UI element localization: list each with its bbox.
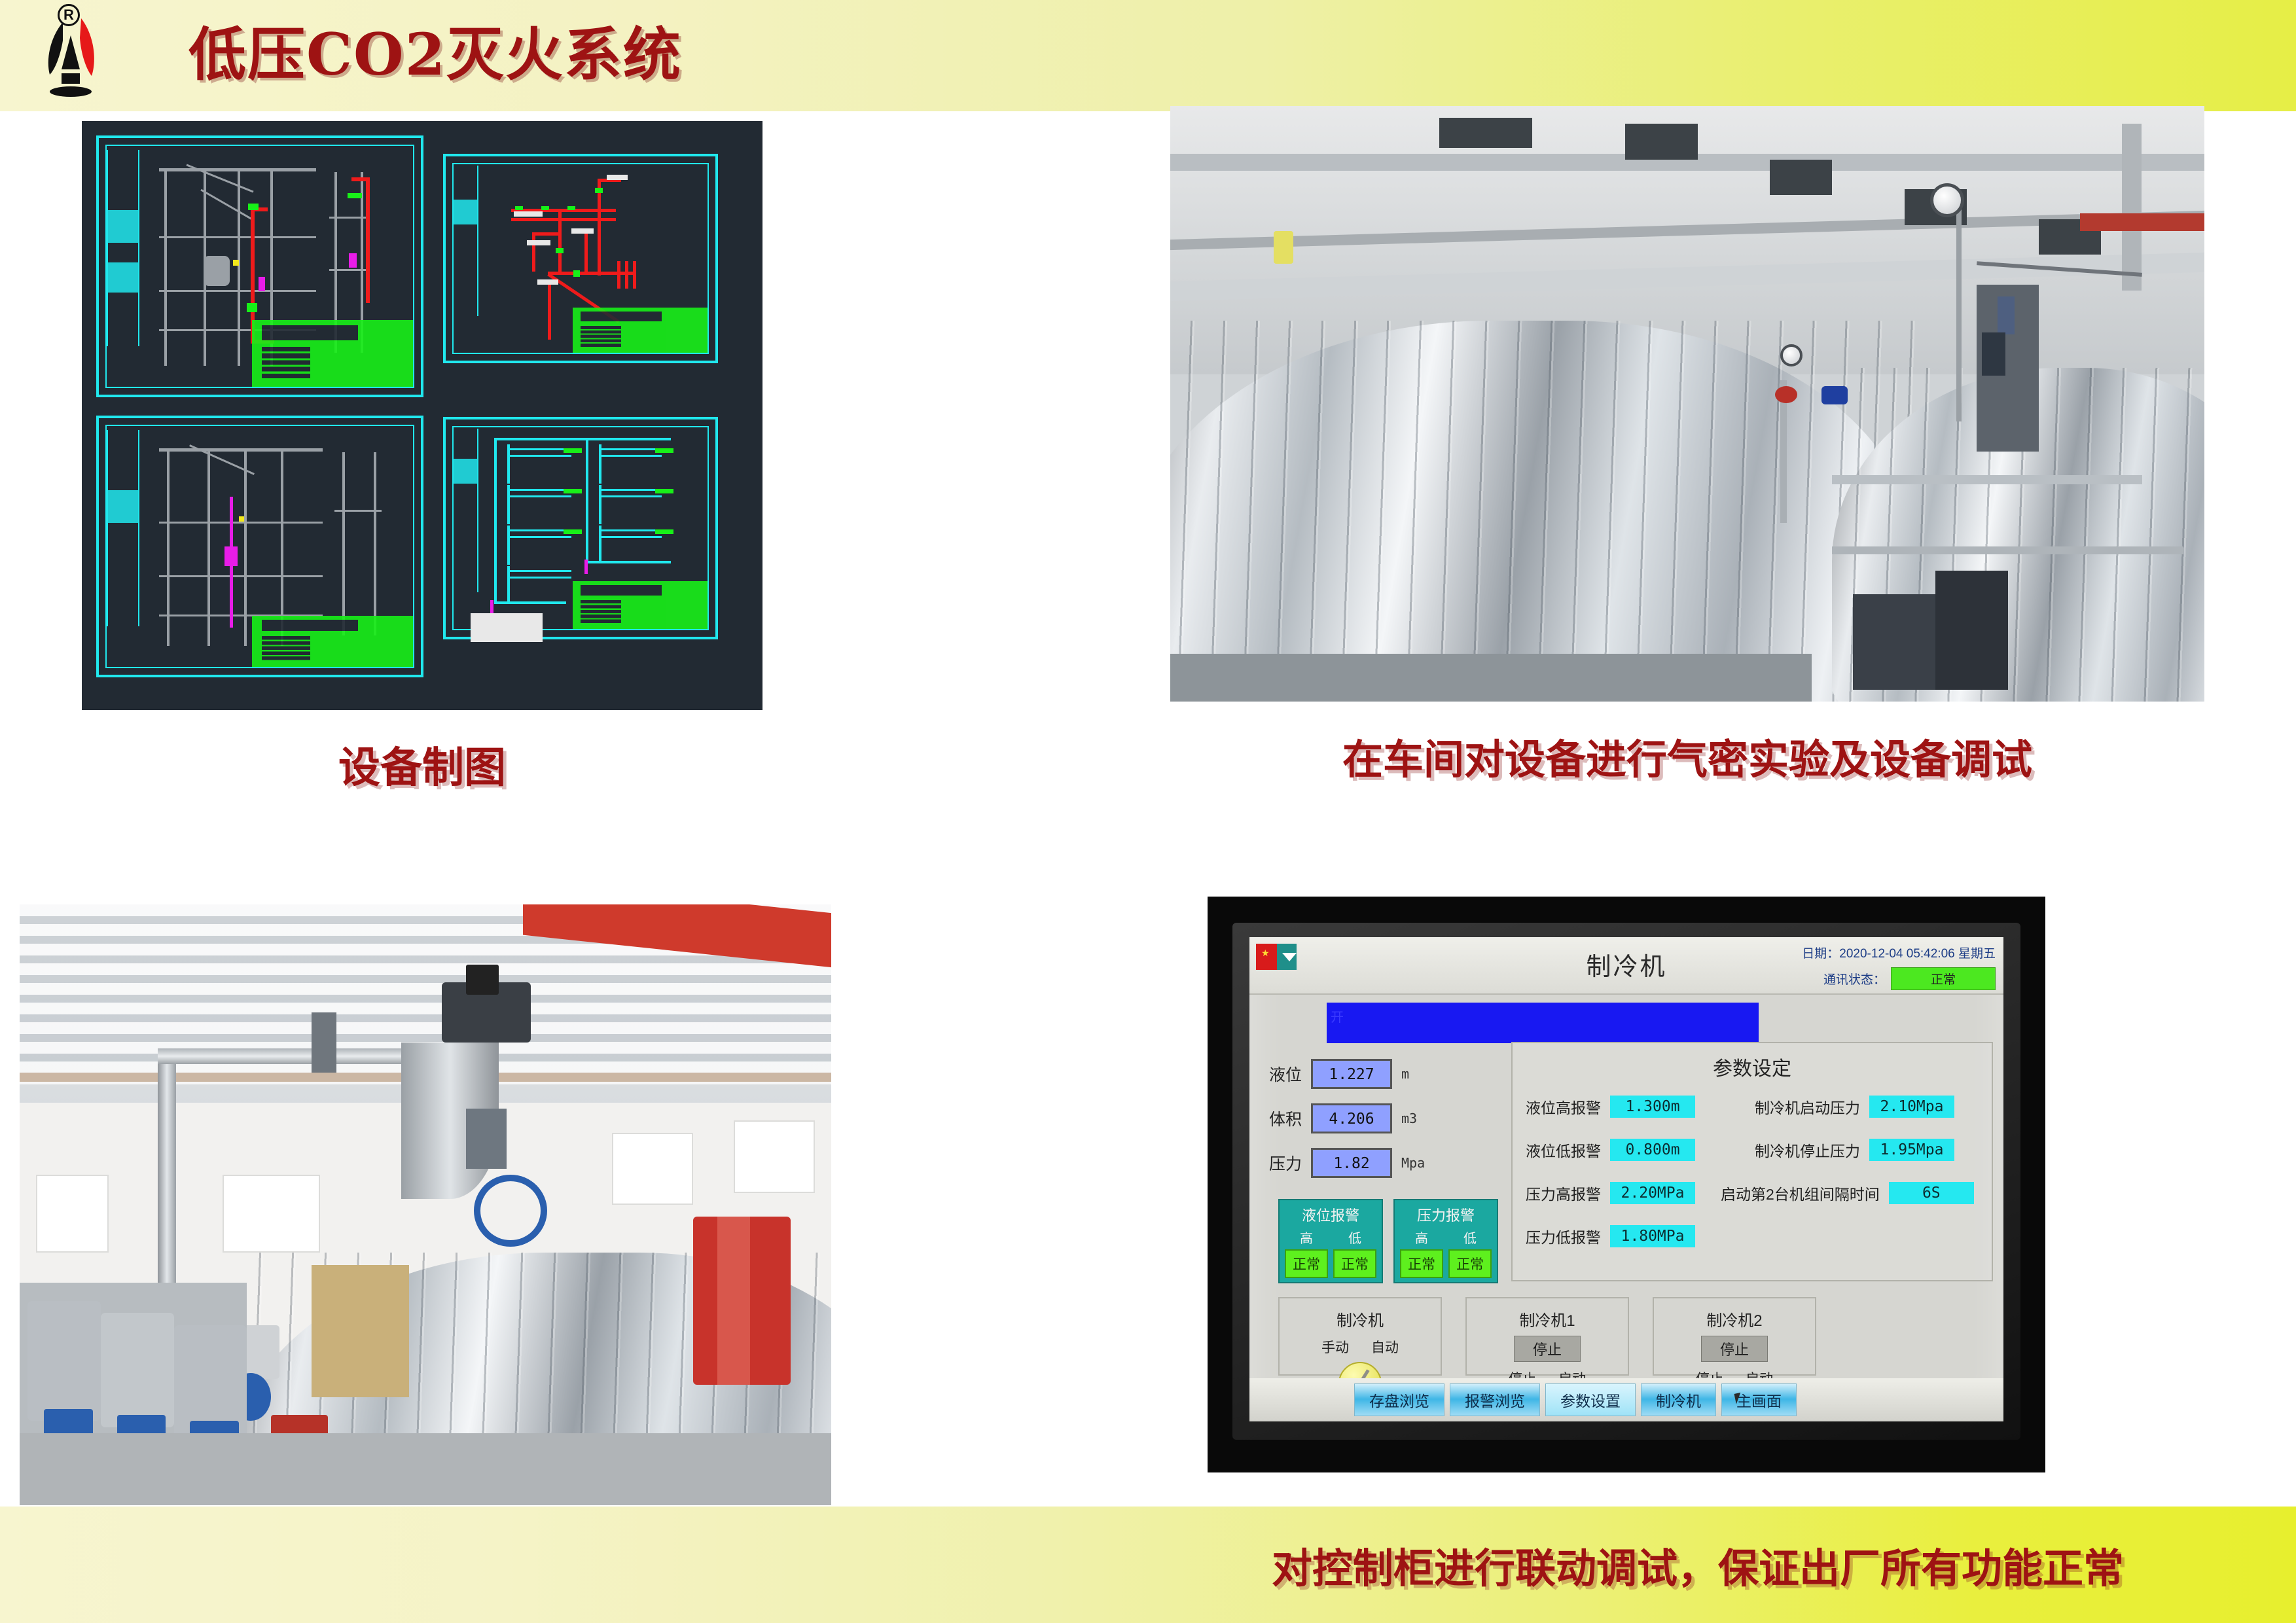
control-title: 制冷机 [1280, 1308, 1441, 1330]
param-label: 压力低报警 [1526, 1225, 1601, 1247]
param-level-high: 液位高报警 1.300m [1526, 1096, 1695, 1118]
workshop-test-image [1170, 106, 2204, 702]
control-state: 停止 [1514, 1336, 1581, 1362]
cad-quadrant-section [96, 416, 423, 677]
control-state: 停止 [1701, 1336, 1768, 1362]
param-value[interactable]: 1.80MPa [1610, 1225, 1695, 1247]
toolbar-button-parameter-settings[interactable]: 参数设置 [1545, 1383, 1636, 1416]
caption-workshop-test: 在车间对设备进行气密实验及设备调试 [1170, 726, 2204, 785]
hmi-comm-label: 通讯状态： [1823, 970, 1886, 988]
alarm-group-title: 压力报警 [1400, 1204, 1492, 1225]
alarm-low-state: 正常 [1448, 1249, 1492, 1278]
param-label: 液位低报警 [1526, 1139, 1601, 1161]
page-title: 低压CO2灭火系统 [188, 5, 682, 103]
toolbar-button-main-screen[interactable]: 主画面 [1721, 1383, 1797, 1416]
readout-value: 4.206 [1311, 1103, 1392, 1133]
cad-quadrant-electrical [443, 417, 718, 639]
alarm-group-level: 液位报警 高 正常 低 正常 [1278, 1199, 1383, 1283]
toolbar-button-chiller[interactable]: 制冷机 [1641, 1383, 1716, 1416]
alarm-high-state: 正常 [1285, 1249, 1328, 1278]
alarm-low-label: 低 [1448, 1228, 1492, 1247]
hmi-comm-status: 通讯状态： 正常 [1823, 967, 1996, 990]
cad-quadrant-piping [443, 154, 718, 363]
param-level-low: 液位低报警 0.800m [1526, 1139, 1695, 1161]
toolbar-button-alarm-browse[interactable]: 报警浏览 [1450, 1383, 1540, 1416]
hmi-date-label: 日期： [1802, 947, 1839, 961]
alarm-high-label: 高 [1285, 1228, 1328, 1247]
alarm-low-state: 正常 [1333, 1249, 1376, 1278]
parameter-panel-title: 参数设定 [1513, 1052, 1992, 1081]
alarm-high: 高 正常 [1400, 1228, 1443, 1278]
control-title: 制冷机2 [1654, 1308, 1815, 1330]
param-label: 制冷机启动压力 [1755, 1096, 1860, 1118]
status-badge: 正常 [1891, 967, 1996, 990]
param-value[interactable]: 0.800m [1610, 1139, 1695, 1161]
alarm-low-label: 低 [1333, 1228, 1376, 1247]
alarm-high-label: 高 [1400, 1228, 1443, 1247]
param-value[interactable]: 2.10Mpa [1869, 1096, 1954, 1118]
toolbar-button-archive-browse[interactable]: 存盘浏览 [1354, 1383, 1444, 1416]
hmi-bezel: ★ 制冷机 日期：2020-12-04 05:42:06 星期五 通讯状态： 正… [1232, 923, 2020, 1440]
alarm-high-state: 正常 [1400, 1249, 1443, 1278]
alarm-group-pressure: 压力报警 高 正常 低 正常 [1393, 1199, 1498, 1283]
cad-drawing-image [82, 121, 762, 710]
registered-trademark-icon: R [58, 4, 80, 26]
parameter-panel: 参数设定 液位高报警 1.300m 液位低报警 0.800m 压力高报警 2.2… [1511, 1042, 1993, 1281]
readout-level: 液位 1.227 m [1269, 1059, 1409, 1089]
readout-pressure: 压力 1.82 Mpa [1269, 1148, 1425, 1178]
readout-value: 1.82 [1311, 1148, 1392, 1178]
hmi-toolbar: 存盘浏览 报警浏览 参数设置 制冷机 主画面 [1249, 1378, 2003, 1421]
param-label: 启动第2台机组间隔时间 [1721, 1182, 1880, 1204]
param-chiller-start-pressure: 制冷机启动压力 2.10Mpa [1755, 1096, 1954, 1118]
control-title: 制冷机1 [1467, 1308, 1628, 1330]
param-pressure-low: 压力低报警 1.80MPa [1526, 1225, 1695, 1247]
param-value[interactable]: 2.20MPa [1610, 1182, 1695, 1204]
caption-control-cabinet: 对控制柜进行联动调试，保证出厂所有功能正常 [1100, 1535, 2296, 1594]
readout-unit: m [1401, 1066, 1409, 1082]
param-second-unit-delay: 启动第2台机组间隔时间 6S [1721, 1182, 1974, 1204]
control-left-label: 手动 [1321, 1337, 1349, 1357]
readout-label: 压力 [1269, 1151, 1302, 1175]
control-cabinet-image: ★ 制冷机 日期：2020-12-04 05:42:06 星期五 通讯状态： 正… [1208, 897, 2045, 1472]
hmi-date-value: 2020-12-04 05:42:06 星期五 [1839, 947, 1996, 961]
page-header: R 低压CO2灭火系统 [0, 0, 2296, 111]
control-chiller-mode: 制冷机 手动 自动 [1278, 1297, 1442, 1376]
control-right-label: 自动 [1371, 1337, 1399, 1357]
hmi-datetime: 日期：2020-12-04 05:42:06 星期五 [1802, 944, 1996, 961]
readout-label: 液位 [1269, 1062, 1302, 1086]
alarm-high: 高 正常 [1285, 1228, 1328, 1278]
readout-value: 1.227 [1311, 1059, 1392, 1089]
hmi-topbar: ★ 制冷机 日期：2020-12-04 05:42:06 星期五 通讯状态： 正… [1249, 937, 2003, 995]
caption-cad-drawing: 设备制图 [82, 734, 762, 794]
param-value[interactable]: 1.95Mpa [1869, 1139, 1954, 1161]
valve-linkage-image [20, 904, 831, 1505]
hmi-message-field[interactable]: 开 [1327, 1003, 1759, 1043]
readout-unit: Mpa [1401, 1155, 1425, 1171]
param-label: 制冷机停止压力 [1755, 1139, 1860, 1161]
readout-volume: 体积 4.206 m3 [1269, 1103, 1417, 1133]
alarm-low: 低 正常 [1333, 1228, 1376, 1278]
readout-unit: m3 [1401, 1111, 1417, 1126]
control-chiller-2: 制冷机2 停止 停止 启动 [1653, 1297, 1816, 1376]
alarm-low: 低 正常 [1448, 1228, 1492, 1278]
control-chiller-1: 制冷机1 停止 停止 启动 [1465, 1297, 1629, 1376]
alarm-group-title: 液位报警 [1285, 1204, 1376, 1225]
param-chiller-stop-pressure: 制冷机停止压力 1.95Mpa [1755, 1139, 1954, 1161]
cad-quadrant-elevation [96, 135, 423, 397]
readout-label: 体积 [1269, 1107, 1302, 1130]
param-label: 液位高报警 [1526, 1096, 1601, 1118]
param-value[interactable]: 6S [1889, 1182, 1974, 1204]
param-value[interactable]: 1.300m [1610, 1096, 1695, 1118]
hmi-screen: ★ 制冷机 日期：2020-12-04 05:42:06 星期五 通讯状态： 正… [1249, 937, 2003, 1421]
param-pressure-high: 压力高报警 2.20MPa [1526, 1182, 1695, 1204]
param-label: 压力高报警 [1526, 1182, 1601, 1204]
